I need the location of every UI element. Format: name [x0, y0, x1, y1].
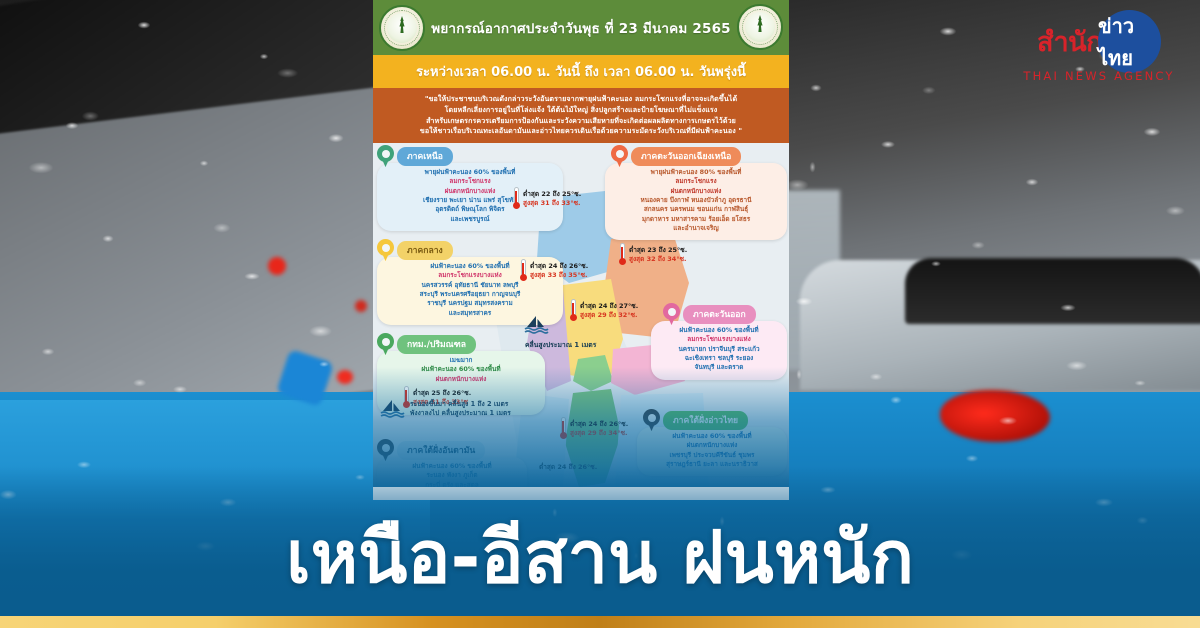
warning-line: ขอให้ชาวเรือบริเวณทะเลอันดามันและอ่าวไทย… — [420, 126, 742, 136]
thermometer-icon — [618, 243, 626, 267]
temp-max: สูงสุด 31 ถึง 33°ซ. — [523, 199, 581, 208]
region-name-south-gulf: ภาคใต้ฝั่งอ่าวไทย — [663, 411, 748, 430]
region-lines-east: ฝนฟ้าคะนอง 60% ของพื้นที่ ลมกระโชกแรงบาง… — [658, 326, 780, 372]
temp-min: ต่ำสุด 23 ถึง 25°ซ. — [629, 246, 687, 255]
background-red-dot — [268, 257, 286, 275]
thai-news-agency-logo: สำนัก ข่าวไทย THAI NEWS AGENCY — [1014, 10, 1184, 102]
region-line: เมฆมาก — [384, 356, 538, 365]
temp-min: ต่ำสุด 24 ถึง 27°ซ. — [580, 302, 638, 311]
temp-east: ต่ำสุด 24 ถึง 27°ซ. สูงสุด 29 ถึง 32°ซ. — [569, 299, 638, 323]
region-name-bangkok: กทม./ปริมณฑล — [397, 335, 476, 354]
background-car-right-window — [905, 258, 1200, 324]
map-pin-icon — [377, 145, 394, 167]
region-header-northeast: ภาคตะวันออกเฉียงเหนือ — [611, 145, 741, 167]
temp-max: สูงสุด 32 ถึง 34°ซ. — [629, 255, 687, 264]
brand-name-thai-prefix: สำนัก — [1037, 20, 1102, 63]
gulf-wave-note — [523, 315, 549, 335]
forecast-title: พยากรณ์อากาศประจำวันพุธ ที่ 23 มีนาคม 25… — [431, 17, 731, 39]
temp-max: สูงสุด 29 ถึง 34°ซ. — [570, 429, 628, 438]
brand-name-english: THAI NEWS AGENCY — [1023, 69, 1174, 83]
region-header-south-andaman: ภาคใต้ฝั่งอันดามัน — [377, 439, 485, 461]
forecast-time-range: ระหว่างเวลา 06.00 น. วันนี้ ถึง เวลา 06.… — [416, 61, 746, 82]
region-line: เพชรบุรี ประจวบคีรีขันธ์ ชุมพร — [644, 451, 780, 460]
tmd-seal-icon — [379, 5, 425, 51]
region-lines-south-andaman: ฝนฟ้าคะนอง 60% ของพื้นที่ ระนอง พังงา ภู… — [384, 462, 520, 487]
region-line: หนองคาย บึงกาฬ หนองบัวลำภู อุดรธานี — [612, 196, 780, 205]
region-line: ระนอง พังงา ภูเก็ต — [384, 471, 520, 480]
region-lines-northeast: พายุฝนฟ้าคะนอง 80% ของพื้นที่ ลมกระโชกแร… — [612, 168, 780, 233]
temp-max: สูงสุด 33 ถึง 35°ซ. — [530, 271, 588, 280]
andaman-wave-note: ระนองขึ้นมา คลื่นสูง 1 ถึง 2 เมตร พังงาล… — [379, 399, 511, 419]
region-line: และเพชรบูรณ์ — [384, 215, 556, 224]
region-line: ฝนตกหนักบางแห่ง — [612, 187, 780, 196]
region-lines-bangkok: เมฆมาก ฝนฟ้าคะนอง 60% ของพื้นที่ ฝนตกหนั… — [384, 356, 538, 384]
region-line: ฉะเชิงเทรา ชลบุรี ระยอง — [658, 354, 780, 363]
region-line: ลมกระโชกแรงบางแห่ง — [658, 335, 780, 344]
region-name-northeast: ภาคตะวันออกเฉียงเหนือ — [631, 147, 741, 166]
headline-band: เหนือ-อีสาน ฝนหนัก — [0, 498, 1200, 616]
region-name-east: ภาคตะวันออก — [683, 305, 756, 324]
region-box-south-gulf: ฝนฟ้าคะนอง 60% ของพื้นที่ ฝนตกหนักบางแห่… — [637, 427, 787, 476]
thermometer-icon — [559, 417, 567, 441]
background-red-vehicle — [940, 390, 1050, 442]
region-line: สุราษฎร์ธานี ยะลา และนราธิวาส — [644, 460, 780, 469]
region-header-east: ภาคตะวันออก — [663, 303, 756, 325]
infographic-header: พยากรณ์อากาศประจำวันพุธ ที่ 23 มีนาคม 25… — [373, 0, 789, 55]
region-box-east: ฝนฟ้าคะนอง 60% ของพื้นที่ ลมกระโชกแรงบาง… — [651, 321, 787, 379]
temp-central: ต่ำสุด 24 ถึง 26°ซ. สูงสุด 33 ถึง 35°ซ. — [519, 259, 588, 283]
temp-northeast: ต่ำสุด 23 ถึง 25°ซ. สูงสุด 32 ถึง 34°ซ. — [618, 243, 687, 267]
ministry-seal-icon — [737, 4, 783, 50]
wave-note-line: ระนองขึ้นมา คลื่นสูง 1 ถึง 2 เมตร — [410, 400, 511, 410]
temp-min: ต่ำสุด 24 ถึง 26°ซ. — [530, 262, 588, 271]
public-warning-block: "ขอให้ประชาชนบริเวณดังกล่าวระวังอันตรายจ… — [373, 88, 789, 143]
warning-line: สำหรับเกษตรกรควรเตรียมการป้องกันและระวัง… — [426, 116, 736, 126]
thermometer-icon — [512, 187, 520, 211]
headline-text: เหนือ-อีสาน ฝนหนัก — [286, 521, 914, 593]
gulf-wave-label: คลื่นสูงประมาณ 1 เมตร — [525, 339, 596, 350]
brand-name-thai-suffix: ข่าวไทย — [1098, 10, 1161, 74]
region-header-north: ภาคเหนือ — [377, 145, 453, 167]
region-box-south-andaman: ฝนฟ้าคะนอง 60% ของพื้นที่ ระนอง พังงา ภู… — [377, 457, 527, 487]
temp-south-gulf: ต่ำสุด 24 ถึง 26°ซ. สูงสุด 29 ถึง 34°ซ. — [559, 417, 628, 441]
region-name-north: ภาคเหนือ — [397, 147, 453, 166]
region-line: ฝนฟ้าคะนอง 60% ของพื้นที่ — [658, 326, 780, 335]
temp-min: ต่ำสุด 25 ถึง 26°ซ. — [413, 389, 471, 398]
region-line: ราชบุรี นครปฐม สมุทรสงคราม — [384, 299, 556, 308]
sailboat-icon — [379, 399, 405, 419]
warning-line: โดยหลีกเลี่ยงการอยู่ในที่โล่งแจ้ง ใต้ต้น… — [445, 105, 718, 115]
sailboat-icon — [523, 315, 549, 335]
region-line: ลมกระโชกแรง — [384, 177, 556, 186]
map-pin-icon — [377, 439, 394, 461]
region-line: ฝนตกหนักบางแห่ง — [384, 375, 538, 384]
region-line: ฝนฟ้าคะนอง 60% ของพื้นที่ — [384, 462, 520, 471]
region-line: สระบุรี พระนครศรีอยุธยา กาญจนบุรี — [384, 290, 556, 299]
temp-min: ต่ำสุด 24 ถึง 26°ซ. — [570, 420, 628, 429]
region-line: นครนายก ปราจีนบุรี สระแก้ว — [658, 345, 780, 354]
warning-line: "ขอให้ประชาชนบริเวณดังกล่าวระวังอันตรายจ… — [425, 94, 737, 104]
map-and-regions: คลื่นสูงประมาณ 1 เมตร ภาคเหนือ พายุฝนฟ้า… — [373, 143, 789, 487]
region-lines-south-gulf: ฝนฟ้าคะนอง 60% ของพื้นที่ ฝนตกหนักบางแห่… — [644, 432, 780, 469]
wave-note-line: พังงาลงไป คลื่นสูงประมาณ 1 เมตร — [410, 409, 511, 419]
region-box-northeast: พายุฝนฟ้าคะนอง 80% ของพื้นที่ ลมกระโชกแร… — [605, 163, 787, 240]
region-line: สกลนคร นครพนม ขอนแก่น กาฬสินธุ์ — [612, 205, 780, 214]
map-pin-icon — [611, 145, 628, 167]
region-header-central: ภาคกลาง — [377, 239, 453, 261]
temp-max: สูงสุด 29 ถึง 32°ซ. — [580, 311, 638, 320]
map-pin-icon — [643, 409, 660, 431]
thermometer-icon — [569, 299, 577, 323]
bottom-gold-band — [0, 616, 1200, 628]
region-line: ฝนฟ้าคะนอง 60% ของพื้นที่ — [644, 432, 780, 441]
region-line: มุกดาหาร มหาสารคาม ร้อยเอ็ด ยโสธร — [612, 215, 780, 224]
region-line: ฝนฟ้าคะนอง 60% ของพื้นที่ — [384, 365, 538, 374]
temp-min: ต่ำสุด 22 ถึง 25°ซ. — [523, 190, 581, 199]
region-line: กระบี่ ตรัง และสตูล — [384, 481, 520, 487]
background-red-dot — [337, 370, 353, 384]
region-line: พายุฝนฟ้าคะนอง 60% ของพื้นที่ — [384, 168, 556, 177]
background-red-dot — [355, 300, 367, 312]
map-pin-icon — [663, 303, 680, 325]
region-header-bangkok: กทม./ปริมณฑล — [377, 333, 476, 355]
map-pin-icon — [377, 239, 394, 261]
screenshot-canvas: พยากรณ์อากาศประจำวันพุธ ที่ 23 มีนาคม 25… — [0, 0, 1200, 628]
region-line: ฝนตกหนักบางแห่ง — [644, 441, 780, 450]
map-pin-icon — [377, 333, 394, 355]
region-name-south-andaman: ภาคใต้ฝั่งอันดามัน — [397, 441, 485, 460]
region-line: พายุฝนฟ้าคะนอง 80% ของพื้นที่ — [612, 168, 780, 177]
temp-min: ต่ำสุด 24 ถึง 26°ซ. — [539, 463, 597, 472]
weather-forecast-infographic: พยากรณ์อากาศประจำวันพุธ ที่ 23 มีนาคม 25… — [373, 0, 789, 500]
region-name-central: ภาคกลาง — [397, 241, 453, 260]
region-line: จันทบุรี และตราด — [658, 363, 780, 372]
thermometer-icon — [519, 259, 527, 283]
region-line: และอำนาจเจริญ — [612, 224, 780, 233]
region-line: ลมกระโชกแรง — [612, 177, 780, 186]
brand-circle-badge: ข่าวไทย — [1098, 10, 1161, 73]
forecast-time-range-band: ระหว่างเวลา 06.00 น. วันนี้ ถึง เวลา 06.… — [373, 55, 789, 88]
temp-south-andaman: ต่ำสุด 24 ถึง 26°ซ. — [539, 463, 597, 472]
temp-north: ต่ำสุด 22 ถึง 25°ซ. สูงสุด 31 ถึง 33°ซ. — [512, 187, 581, 211]
region-header-south-gulf: ภาคใต้ฝั่งอ่าวไทย — [643, 409, 748, 431]
